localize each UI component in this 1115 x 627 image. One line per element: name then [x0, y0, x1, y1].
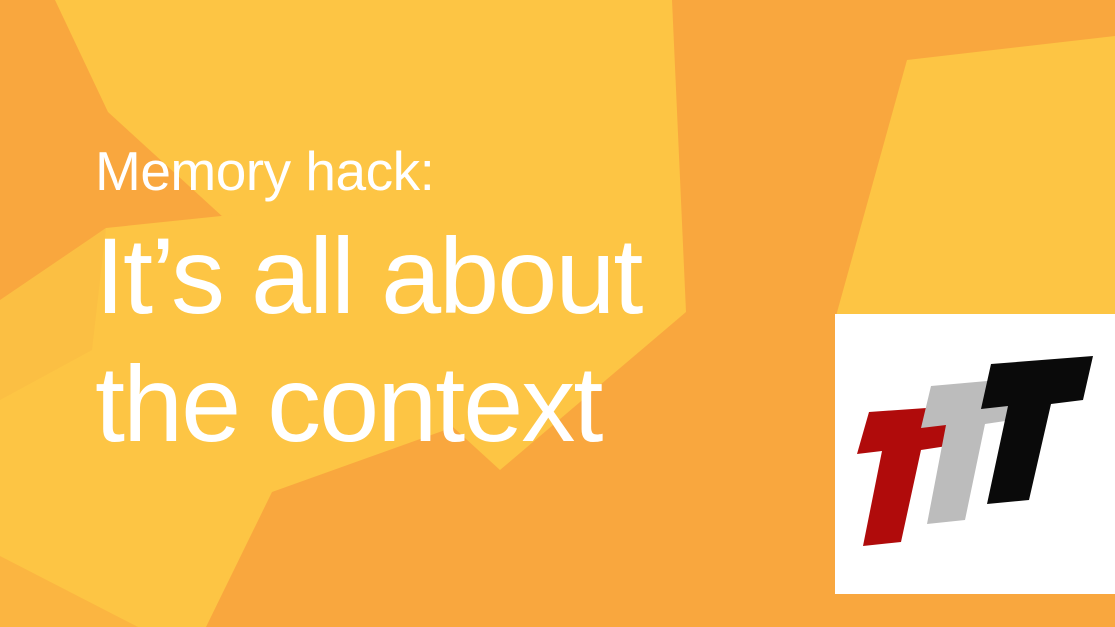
- logo-card: [835, 314, 1115, 594]
- eyebrow-label: Memory hack:: [95, 140, 855, 202]
- logo-t-black: [981, 356, 1093, 504]
- headline-text-block: Memory hack: It’s all about the context: [95, 140, 855, 468]
- ttt-logo-mark: [835, 314, 1115, 594]
- page-title: It’s all about the context: [95, 212, 855, 468]
- slide-canvas: Memory hack: It’s all about the context: [0, 0, 1115, 627]
